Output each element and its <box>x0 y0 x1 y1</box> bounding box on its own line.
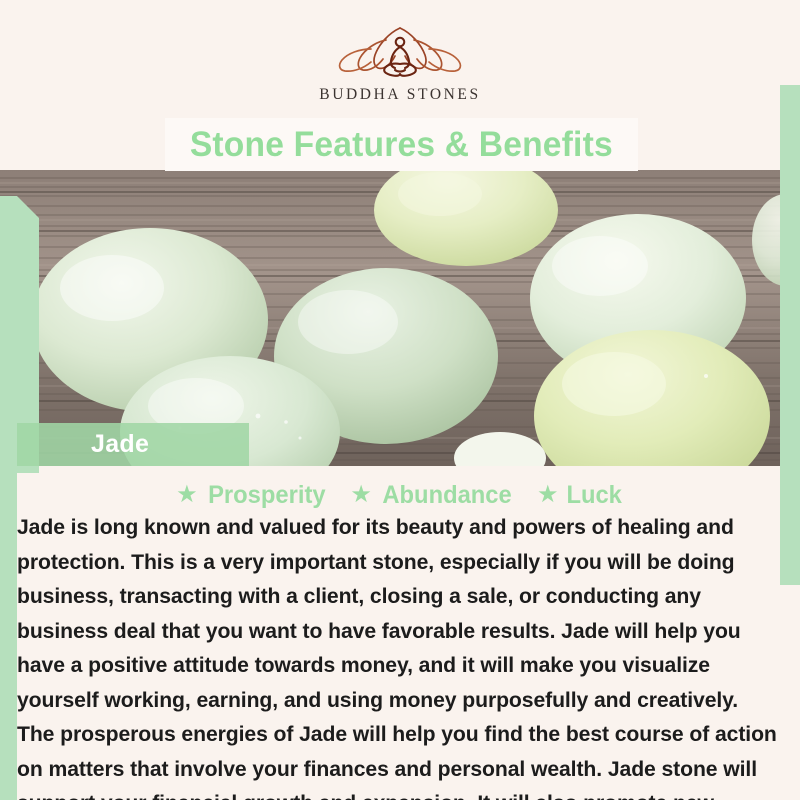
brand-name: BUDDHA STONES <box>319 86 480 104</box>
lotus-meditation-icon <box>325 18 475 80</box>
benefit-label: Abundance <box>382 481 511 510</box>
stone-name-band: Jade <box>17 423 249 466</box>
benefit-item: ★ Luck <box>537 481 624 510</box>
benefits-row: ★ Prosperity ★ Abundance ★ Luck <box>0 478 800 512</box>
stone-photo <box>0 170 800 466</box>
star-icon: ★ <box>176 483 198 507</box>
benefit-item: ★ Prosperity <box>176 481 328 510</box>
page-title: Stone Features & Benefits <box>190 125 613 165</box>
benefit-label: Luck <box>567 481 622 510</box>
infographic-card: BUDDHA STONES <box>0 0 800 800</box>
title-plaque: Stone Features & Benefits <box>165 118 638 171</box>
brand-header: BUDDHA STONES <box>0 0 800 118</box>
benefit-item: ★ Abundance <box>350 481 515 510</box>
stone-description: Jade is long known and valued for its be… <box>17 510 777 800</box>
star-icon: ★ <box>350 483 372 507</box>
stone-name-label: Jade <box>91 430 149 459</box>
star-icon: ★ <box>537 483 559 507</box>
benefit-label: Prosperity <box>208 481 325 510</box>
